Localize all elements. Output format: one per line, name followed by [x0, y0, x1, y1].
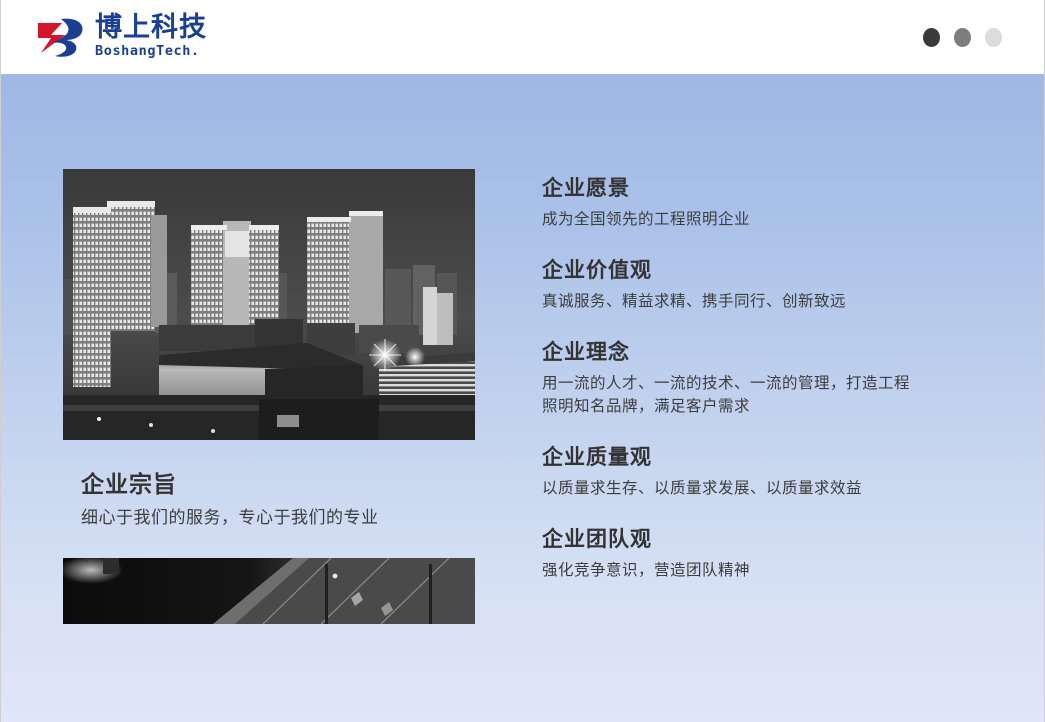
left-column: 企业宗旨 细心于我们的服务，专心于我们的专业 — [63, 169, 475, 624]
brand-wordmark: 博上科技 BoshangTech. — [95, 14, 207, 60]
brand-name-cn: 博上科技 — [95, 14, 207, 41]
value-item-quality: 企业质量观 以质量求生存、以质量求发展、以质量求效益 — [542, 443, 972, 500]
page-root: 博上科技 BoshangTech. — [0, 0, 1045, 722]
value-item-philosophy: 企业理念 用一流的人才、一流的技术、一流的管理，打造工程照明知名品牌，满足客户需… — [542, 338, 972, 418]
road-night-photo — [63, 558, 475, 624]
value-text: 成为全国领先的工程照明企业 — [542, 208, 914, 231]
slide-dot-1[interactable] — [923, 28, 940, 47]
slide-dot-3[interactable] — [985, 28, 1002, 47]
value-text: 强化竞争意识，营造团队精神 — [542, 559, 914, 582]
value-title: 企业价值观 — [542, 256, 972, 285]
slide-dot-2[interactable] — [954, 28, 971, 47]
slider-pagination[interactable] — [923, 28, 1022, 47]
value-text: 以质量求生存、以质量求发展、以质量求效益 — [542, 477, 914, 500]
brand-logo[interactable]: 博上科技 BoshangTech. — [35, 11, 207, 63]
value-title: 企业理念 — [542, 338, 972, 367]
purpose-title: 企业宗旨 — [81, 470, 475, 500]
value-item-team: 企业团队观 强化竞争意识，营造团队精神 — [542, 525, 972, 582]
value-item-values: 企业价值观 真诚服务、精益求精、携手同行、创新致远 — [542, 256, 972, 313]
brand-name-en: BoshangTech. — [95, 43, 207, 60]
content-stage: 企业宗旨 细心于我们的服务，专心于我们的专业 — [1, 74, 1044, 722]
boshang-logo-icon — [35, 15, 87, 59]
value-text: 真诚服务、精益求精、携手同行、创新致远 — [542, 290, 914, 313]
site-header: 博上科技 BoshangTech. — [1, 0, 1044, 74]
value-title: 企业质量观 — [542, 443, 972, 472]
right-column: 企业愿景 成为全国领先的工程照明企业 企业价值观 真诚服务、精益求精、携手同行、… — [542, 174, 972, 582]
value-item-vision: 企业愿景 成为全国领先的工程照明企业 — [542, 174, 972, 231]
purpose-text: 细心于我们的服务，专心于我们的专业 — [81, 506, 475, 530]
purpose-block: 企业宗旨 细心于我们的服务，专心于我们的专业 — [63, 470, 475, 530]
value-text: 用一流的人才、一流的技术、一流的管理，打造工程照明知名品牌，满足客户需求 — [542, 372, 914, 418]
value-title: 企业团队观 — [542, 525, 972, 554]
city-night-photo — [63, 169, 475, 440]
value-title: 企业愿景 — [542, 174, 972, 203]
